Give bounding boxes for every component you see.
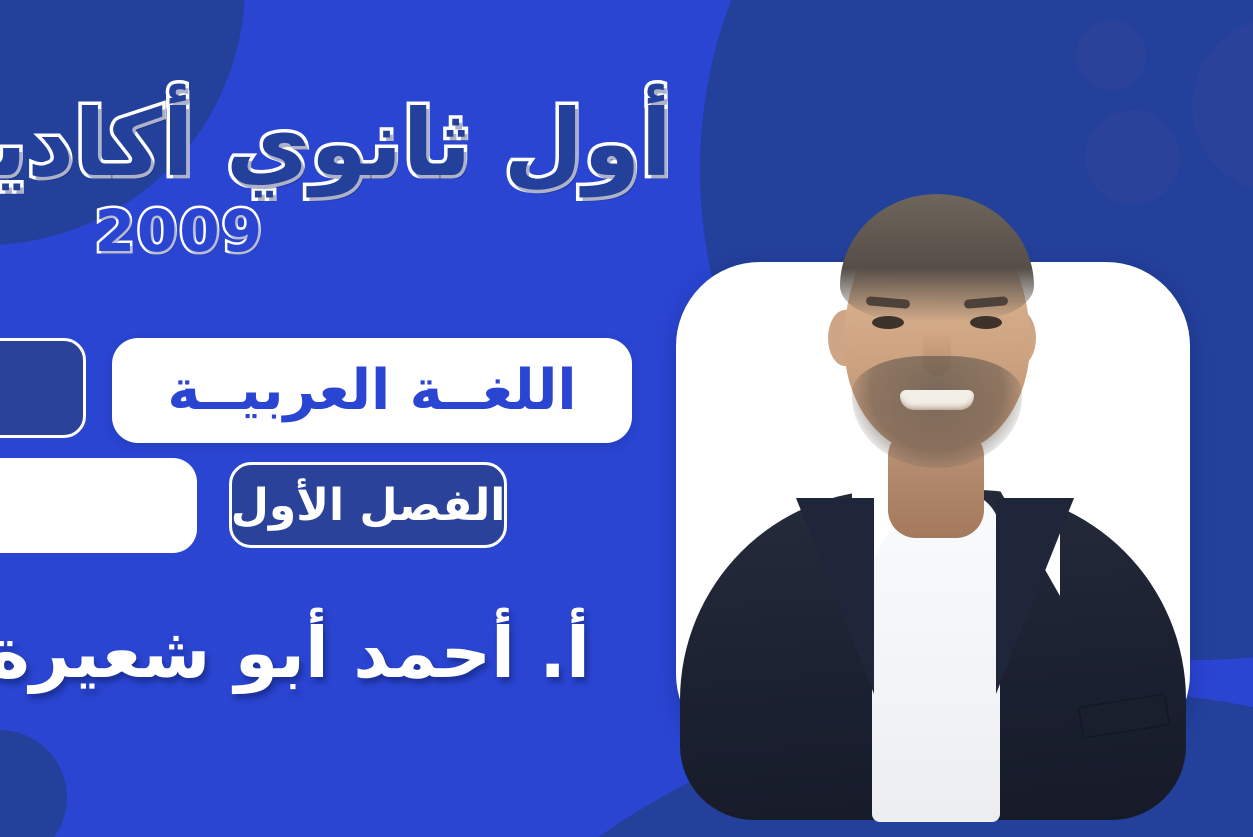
poster-year: 2009 bbox=[95, 197, 264, 265]
course-poster: أول ثانوي أكاديمي 2009 اللغــة العربيــة… bbox=[0, 0, 1253, 837]
teacher-name-block: أ. أحمد أبو شعيرة bbox=[0, 612, 640, 694]
poster-title: أول ثانوي أكاديمي bbox=[0, 96, 672, 193]
subject-label: اللغــة العربيــة bbox=[167, 358, 576, 423]
portrait-smile bbox=[900, 390, 974, 410]
subject-badge: اللغــة العربيــة bbox=[112, 338, 632, 443]
portrait-beard bbox=[852, 356, 1022, 468]
decor-circle-large-right bbox=[1192, 18, 1253, 193]
decor-tab-dark-left bbox=[0, 338, 86, 438]
portrait-lapel-right bbox=[996, 498, 1074, 694]
decor-circle-bottom-left bbox=[0, 730, 67, 837]
teacher-portrait bbox=[676, 60, 1190, 758]
teacher-name: أ. أحمد أبو شعيرة bbox=[0, 612, 590, 694]
portrait-eye-left bbox=[872, 316, 904, 329]
portrait-lapel-left bbox=[796, 498, 874, 694]
headline-block: أول ثانوي أكاديمي 2009 bbox=[0, 96, 690, 265]
decor-tab-white-left bbox=[0, 458, 197, 553]
portrait-eye-right bbox=[970, 316, 1002, 329]
term-label: الفصل الأول bbox=[231, 480, 506, 531]
term-badge: الفصل الأول bbox=[229, 462, 507, 548]
